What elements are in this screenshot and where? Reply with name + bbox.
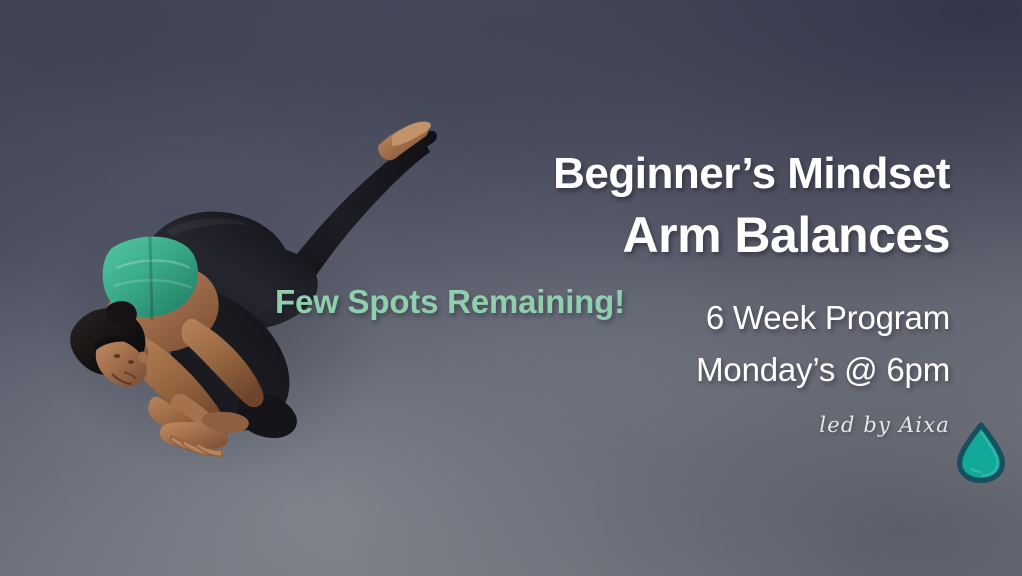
headline-line-2: Arm Balances: [330, 204, 950, 266]
headline-line-1: Beginner’s Mindset: [330, 146, 950, 202]
copy-block: Beginner’s Mindset Arm Balances 6 Week P…: [330, 146, 950, 442]
water-drop-icon: [952, 422, 1010, 484]
program-duration: 6 Week Program: [330, 292, 950, 344]
program-schedule: Monday’s @ 6pm: [330, 344, 950, 396]
promo-poster: Few Spots Remaining! Beginner’s Mindset …: [0, 0, 1022, 576]
instructor-credit: led by Aixa: [330, 408, 950, 442]
